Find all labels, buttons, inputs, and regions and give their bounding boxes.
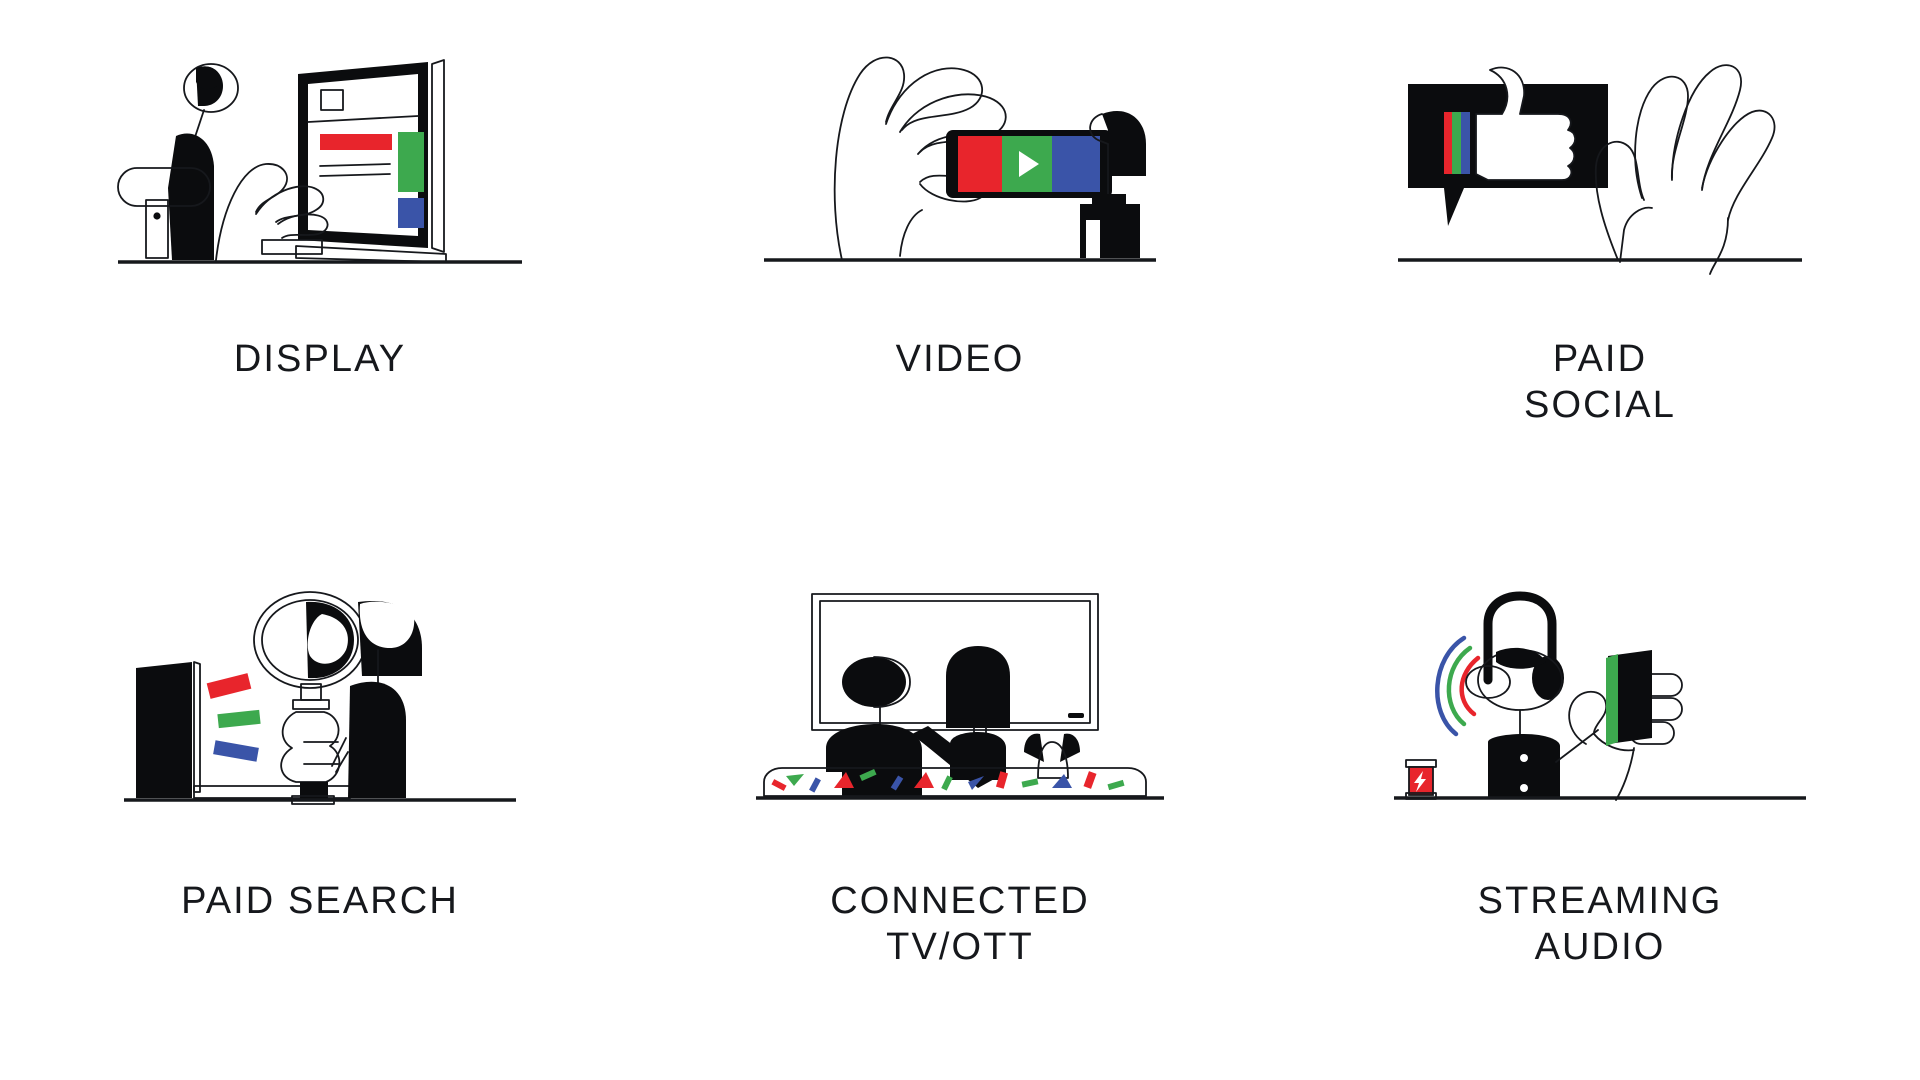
channel-label-paid-social: PAID SOCIAL [1524,336,1676,429]
listener-body [1488,734,1560,798]
streaming-audio-illustration [1390,586,1810,838]
channel-card-streaming-audio[interactable]: STREAMING AUDIO [1280,540,1920,1080]
energy-drink-can [1406,760,1436,799]
waving-hand [1596,65,1775,274]
headphones [1488,596,1564,700]
channel-card-video[interactable]: VIDEO [640,0,1280,540]
seated-person [168,64,238,260]
channel-label-paid-search: PAID SEARCH [181,878,459,924]
channel-card-display[interactable]: DISPLAY [0,0,640,540]
pet-on-couch [1024,734,1080,778]
channel-label-video: VIDEO [896,336,1025,382]
viewer-left [824,657,922,798]
connected-tv-illustration [750,586,1170,838]
smartphone[interactable] [1606,650,1652,746]
video-player-screen[interactable] [946,130,1112,198]
channel-card-connected-tv[interactable]: CONNECTED TV/OTT [640,540,1280,1080]
channel-card-paid-social[interactable]: PAID SOCIAL [1280,0,1920,540]
viewer-right [912,646,1010,788]
paid-search-illustration [110,586,530,838]
channel-card-paid-search[interactable]: PAID SEARCH [0,540,640,1080]
display-illustration [110,48,530,300]
channel-label-connected-tv: CONNECTED TV/OTT [830,878,1089,971]
paid-social-illustration [1390,48,1810,300]
channel-label-display: DISPLAY [234,336,406,382]
sound-wave-arcs [1437,638,1478,734]
channel-grid: DISPLAY [0,0,1920,1080]
channel-label-streaming-audio: STREAMING AUDIO [1478,878,1723,971]
desktop-monitor [296,60,446,262]
video-illustration [750,48,1170,300]
search-result-bars [207,673,261,762]
